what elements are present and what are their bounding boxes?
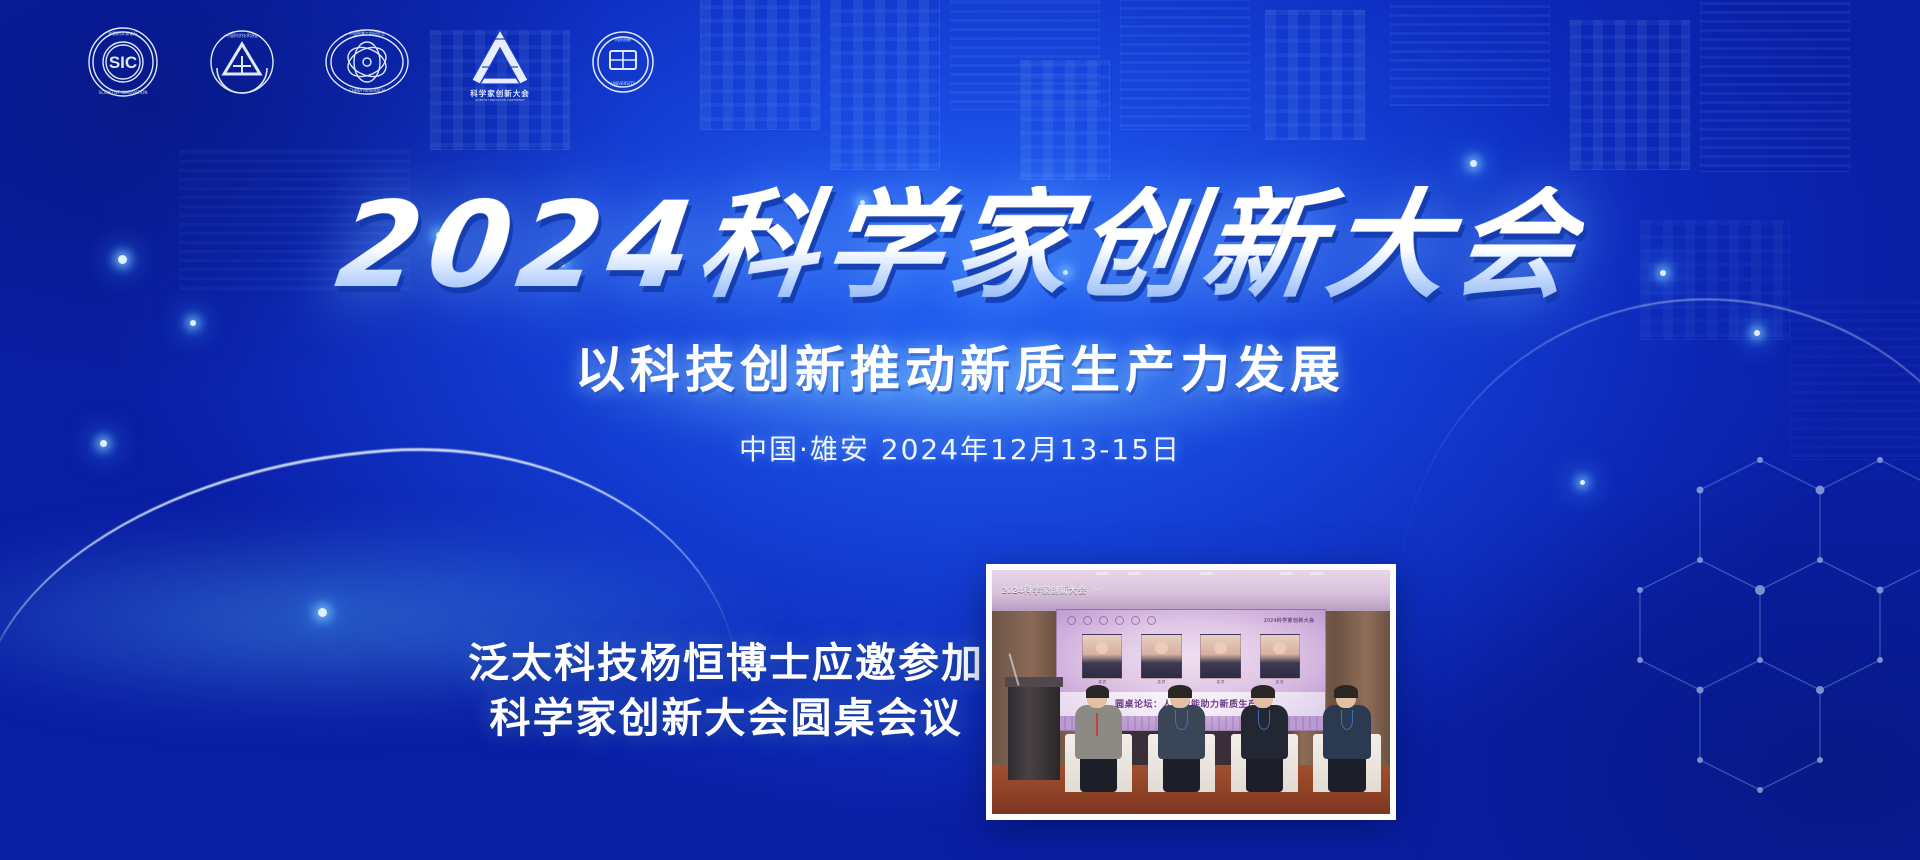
- svg-text:CHINA RESEARCH: CHINA RESEARCH: [349, 88, 384, 93]
- svg-text:SCIENTIST INNOVATION CONFERENC: SCIENTIST INNOVATION CONFERENCE: [476, 98, 525, 102]
- page-title: 2024科学家创新大会: [330, 186, 1589, 304]
- panelist-hair: [1334, 685, 1358, 698]
- podium-top: [1005, 677, 1063, 687]
- event-caption: 泛太科技杨恒博士应邀参加 科学家创新大会圆桌会议: [466, 636, 986, 746]
- speaker-name: 嘉 宾: [1201, 679, 1239, 684]
- screen-header: 2024科学家创新大会: [1067, 616, 1314, 625]
- svg-text:科技创新: 科技创新: [615, 36, 631, 42]
- svg-text:中国科学家论坛: 中国科学家论坛: [108, 30, 137, 37]
- triangle-institute-logo: 科学家创新大会 SCIENTIST INNOVATION CONFERENCE: [458, 22, 542, 107]
- atom-oval-emblem-logo: 中国智慧工程研究会 CHINA RESEARCH: [324, 27, 410, 102]
- globe-icon: [1099, 616, 1108, 625]
- podium: [1008, 682, 1060, 780]
- roundtable-panel-photo: 2024科学家创新大会 2024科学家创新大会: [986, 564, 1396, 820]
- photo-content: 2024科学家创新大会 2024科学家创新大会: [992, 570, 1390, 814]
- speaker-portrait: 嘉 宾: [1200, 634, 1240, 679]
- panelist-body: [1075, 705, 1122, 759]
- triangle-icon: [1131, 616, 1140, 625]
- circle-icon: [1067, 616, 1076, 625]
- caption-line-2: 科学家创新大会圆桌会议: [466, 691, 986, 746]
- lanyard: [1175, 710, 1187, 729]
- svg-text:UNIVERSITY: UNIVERSITY: [611, 81, 635, 86]
- speaker-name: 嘉 宾: [1083, 679, 1121, 684]
- speaker-portrait: 嘉 宾: [1260, 634, 1300, 679]
- speaker-portrait: 嘉 宾: [1082, 634, 1122, 679]
- panelist: [1316, 685, 1378, 792]
- title-block: 2024科学家创新大会 以科技创新推动新质生产力发展 中国·雄安 2024年12…: [0, 186, 1920, 468]
- screen-brand-text: 2024科学家创新大会: [1264, 617, 1315, 624]
- round-university-emblem-logo: 科技创新 UNIVERSITY: [590, 29, 656, 100]
- gear-icon: [1115, 616, 1124, 625]
- shield-emblem-logo: 中国科学技术协会: [208, 28, 276, 101]
- conference-banner: SIC 中国科学家论坛 SCIENTIST INNOVATION 中国科学技术协…: [0, 0, 1920, 860]
- speaker-name: 嘉 宾: [1261, 679, 1299, 684]
- lanyard: [1341, 710, 1353, 729]
- speaker-name: 嘉 宾: [1142, 679, 1180, 684]
- panelist: [1150, 685, 1212, 792]
- svg-text:科学家创新大会: 科学家创新大会: [470, 88, 530, 98]
- event-location-date: 中国·雄安 2024年12月13-15日: [0, 428, 1920, 468]
- stage-banner-text: 2024科学家创新大会: [1002, 584, 1087, 596]
- panelist-hair: [1251, 685, 1275, 698]
- sic-emblem-logo: SIC 中国科学家论坛 SCIENTIST INNOVATION: [86, 25, 160, 104]
- page-subtitle: 以科技创新推动新质生产力发展: [0, 330, 1920, 402]
- panelist-hair: [1086, 685, 1110, 698]
- svg-text:SCIENTIST INNOVATION: SCIENTIST INNOVATION: [98, 90, 147, 95]
- panelist: [1068, 685, 1130, 792]
- speaker-portrait: 嘉 宾: [1141, 634, 1181, 679]
- caption-line-1: 泛太科技杨恒博士应邀参加: [466, 636, 986, 691]
- panelist: [1233, 685, 1295, 792]
- stage-banner-strip: 2024科学家创新大会: [1002, 579, 1145, 601]
- svg-text:中国智慧工程研究会: 中国智慧工程研究会: [349, 30, 385, 36]
- name-badge: [1096, 713, 1098, 737]
- svg-text:SIC: SIC: [109, 53, 137, 72]
- speaker-portrait-row: 嘉 宾 嘉 宾 嘉 宾 嘉 宾: [1073, 634, 1309, 692]
- organizer-logo-row: SIC 中国科学家论坛 SCIENTIST INNOVATION 中国科学技术协…: [86, 22, 656, 107]
- svg-text:中国科学技术协会: 中国科学技术协会: [226, 32, 258, 38]
- home-icon: [1083, 616, 1092, 625]
- screen-icon-row: [1067, 616, 1156, 625]
- target-icon: [1147, 616, 1156, 625]
- panelist-hair: [1168, 685, 1192, 698]
- panelist-row: [1068, 685, 1378, 792]
